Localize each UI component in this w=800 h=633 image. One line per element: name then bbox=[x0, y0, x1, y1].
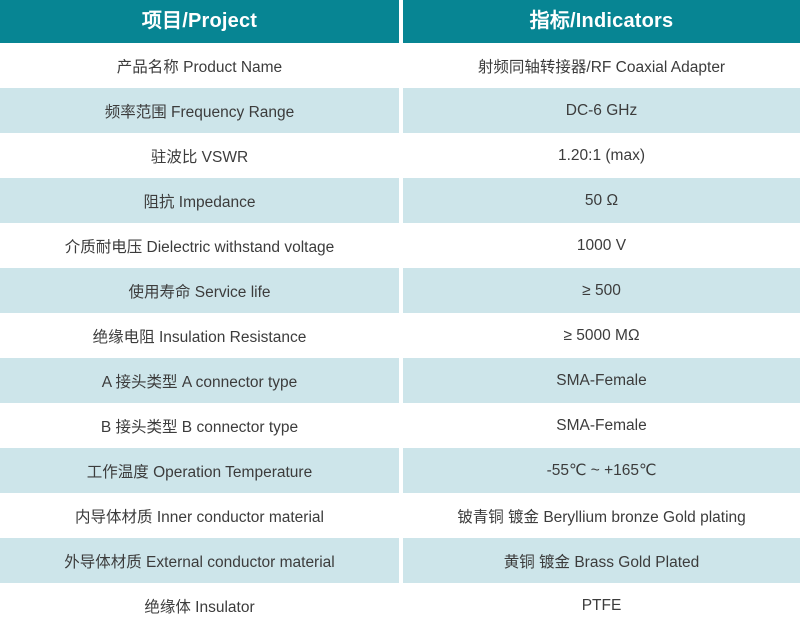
table-row: 阻抗 Impedance50 Ω bbox=[0, 178, 800, 223]
cell-indicator: SMA-Female bbox=[403, 358, 800, 403]
table-row: A 接头类型 A connector typeSMA-Female bbox=[0, 358, 800, 403]
cell-indicator: -55℃ ~ +165℃ bbox=[403, 448, 800, 493]
table-row: 使用寿命 Service life≥ 500 bbox=[0, 268, 800, 313]
column-header-project: 项目/Project bbox=[0, 0, 399, 43]
cell-project: B 接头类型 B connector type bbox=[0, 403, 399, 448]
specification-table: 项目/Project 指标/Indicators 产品名称 Product Na… bbox=[0, 0, 800, 628]
table-row: 内导体材质 Inner conductor material铍青铜 镀金 Ber… bbox=[0, 493, 800, 538]
cell-indicator: ≥ 500 bbox=[403, 268, 800, 313]
table-row: 驻波比 VSWR1.20:1 (max) bbox=[0, 133, 800, 178]
cell-project: 介质耐电压 Dielectric withstand voltage bbox=[0, 223, 399, 268]
table-row: 产品名称 Product Name射频同轴转接器/RF Coaxial Adap… bbox=[0, 43, 800, 88]
cell-indicator: PTFE bbox=[403, 583, 800, 628]
cell-project: 阻抗 Impedance bbox=[0, 178, 399, 223]
cell-project: 绝缘体 Insulator bbox=[0, 583, 399, 628]
table-row: 绝缘体 InsulatorPTFE bbox=[0, 583, 800, 628]
cell-project: 频率范围 Frequency Range bbox=[0, 88, 399, 133]
cell-indicator: 50 Ω bbox=[403, 178, 800, 223]
column-header-indicators: 指标/Indicators bbox=[403, 0, 800, 43]
header-row: 项目/Project 指标/Indicators bbox=[0, 0, 800, 43]
table-row: 频率范围 Frequency RangeDC-6 GHz bbox=[0, 88, 800, 133]
table-header: 项目/Project 指标/Indicators bbox=[0, 0, 800, 43]
cell-indicator: ≥ 5000 MΩ bbox=[403, 313, 800, 358]
cell-project: 内导体材质 Inner conductor material bbox=[0, 493, 399, 538]
cell-project: 外导体材质 External conductor material bbox=[0, 538, 399, 583]
cell-indicator: 1000 V bbox=[403, 223, 800, 268]
cell-indicator: 黄铜 镀金 Brass Gold Plated bbox=[403, 538, 800, 583]
table-row: 工作温度 Operation Temperature-55℃ ~ +165℃ bbox=[0, 448, 800, 493]
cell-project: 绝缘电阻 Insulation Resistance bbox=[0, 313, 399, 358]
cell-project: 产品名称 Product Name bbox=[0, 43, 399, 88]
cell-project: A 接头类型 A connector type bbox=[0, 358, 399, 403]
cell-indicator: 1.20:1 (max) bbox=[403, 133, 800, 178]
cell-project: 驻波比 VSWR bbox=[0, 133, 399, 178]
table-row: 外导体材质 External conductor material黄铜 镀金 B… bbox=[0, 538, 800, 583]
cell-indicator: 射频同轴转接器/RF Coaxial Adapter bbox=[403, 43, 800, 88]
cell-indicator: DC-6 GHz bbox=[403, 88, 800, 133]
cell-project: 工作温度 Operation Temperature bbox=[0, 448, 399, 493]
table-row: 介质耐电压 Dielectric withstand voltage1000 V bbox=[0, 223, 800, 268]
cell-project: 使用寿命 Service life bbox=[0, 268, 399, 313]
table-body: 产品名称 Product Name射频同轴转接器/RF Coaxial Adap… bbox=[0, 43, 800, 628]
table-row: B 接头类型 B connector typeSMA-Female bbox=[0, 403, 800, 448]
cell-indicator: 铍青铜 镀金 Beryllium bronze Gold plating bbox=[403, 493, 800, 538]
cell-indicator: SMA-Female bbox=[403, 403, 800, 448]
table-row: 绝缘电阻 Insulation Resistance≥ 5000 MΩ bbox=[0, 313, 800, 358]
